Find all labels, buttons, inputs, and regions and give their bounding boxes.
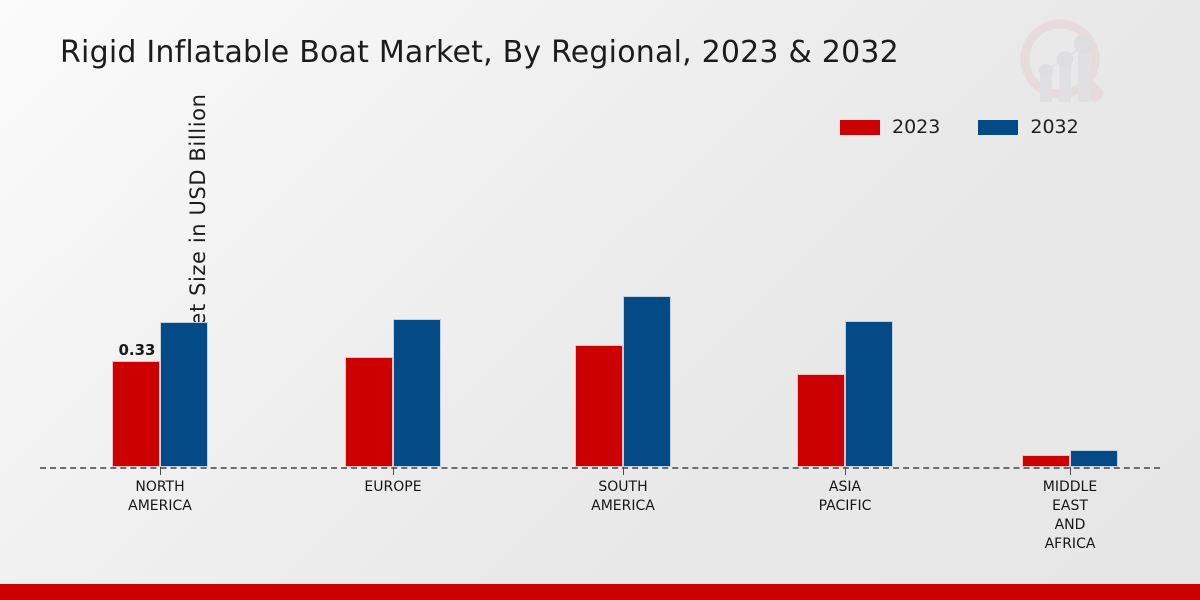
legend-swatch-2032	[978, 120, 1018, 135]
x-axis-label-line: AFRICA	[970, 535, 1170, 554]
x-axis-label-line: MIDDLE	[970, 478, 1170, 497]
x-axis-label-south-america: SOUTHAMERICA	[523, 478, 723, 516]
x-axis-label-line: EUROPE	[293, 478, 493, 497]
bar-2032-europe[interactable]	[393, 319, 441, 467]
legend-label-2032: 2032	[1030, 118, 1078, 137]
bar-2023-europe[interactable]	[345, 357, 393, 467]
legend-item-2023[interactable]: 2023	[840, 118, 940, 137]
bar-2032-north-america[interactable]	[160, 322, 208, 467]
bar-2032-south-america[interactable]	[623, 296, 671, 467]
bar-group-asia-pacific	[797, 162, 893, 467]
legend-swatch-2023	[840, 120, 880, 135]
bar-group-south-america	[575, 162, 671, 467]
bar-2023-middle-east-and-africa[interactable]	[1022, 455, 1070, 467]
bar-2032-middle-east-and-africa[interactable]	[1070, 450, 1118, 467]
x-axis-label-europe: EUROPE	[293, 478, 493, 497]
x-axis-baseline	[40, 467, 1160, 469]
x-axis-label-line: ASIA	[745, 478, 945, 497]
x-axis-tick	[160, 467, 161, 475]
footer-accent-bar	[0, 584, 1200, 600]
x-axis-label-line: EAST	[970, 497, 1170, 516]
x-axis-label-line: AMERICA	[60, 497, 260, 516]
x-axis-label-line: AMERICA	[523, 497, 723, 516]
market-research-logo-watermark-icon	[1012, 14, 1122, 114]
x-axis-label-line: SOUTH	[523, 478, 723, 497]
x-axis-label-line: NORTH	[60, 478, 260, 497]
bar-value-label: 0.33	[113, 341, 161, 359]
bar-2023-north-america[interactable]: 0.33	[112, 361, 160, 467]
legend-label-2023: 2023	[892, 118, 940, 137]
x-axis-tick	[1070, 467, 1071, 475]
bar-group-middle-east-and-africa	[1022, 162, 1118, 467]
x-axis-label-line: AND	[970, 516, 1170, 535]
bar-group-europe	[345, 162, 441, 467]
x-axis-label-line: PACIFIC	[745, 497, 945, 516]
bar-2023-asia-pacific[interactable]	[797, 374, 845, 467]
legend-item-2032[interactable]: 2032	[978, 118, 1078, 137]
x-axis-label-middle-east-and-africa: MIDDLEEASTANDAFRICA	[970, 478, 1170, 554]
x-axis-label-asia-pacific: ASIAPACIFIC	[745, 478, 945, 516]
x-axis-tick	[623, 467, 624, 475]
x-axis-tick	[845, 467, 846, 475]
chart-canvas: Rigid Inflatable Boat Market, By Regiona…	[0, 0, 1200, 600]
x-axis-label-north-america: NORTHAMERICA	[60, 478, 260, 516]
plot-area: 0.33NORTHAMERICAEUROPESOUTHAMERICAASIAPA…	[40, 160, 1200, 470]
x-axis-tick	[393, 467, 394, 475]
bar-2023-south-america[interactable]	[575, 345, 623, 467]
bar-2032-asia-pacific[interactable]	[845, 321, 893, 467]
y-axis-title: Market Size in USD Billion	[0, 0, 34, 224]
bar-group-north-america: 0.33	[112, 162, 208, 467]
chart-legend: 2023 2032	[840, 118, 1079, 137]
